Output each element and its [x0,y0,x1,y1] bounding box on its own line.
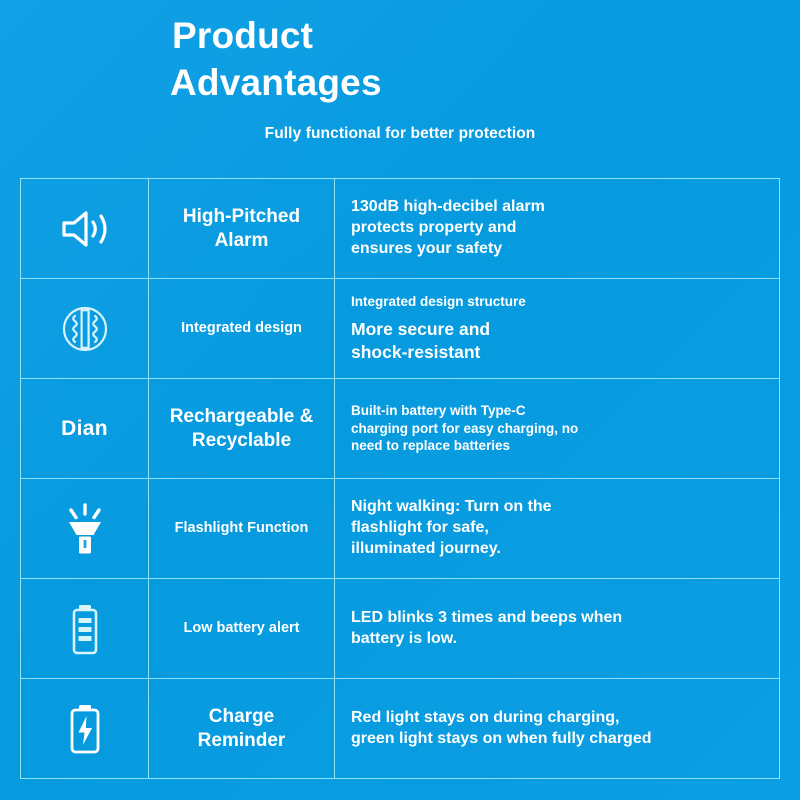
page-title: Product Advantages [170,12,630,107]
battery-charging-bolt-icon [65,703,105,755]
flashlight-icon [62,502,108,556]
row-description: LED blinks 3 times and beeps when batter… [351,608,763,650]
table-row: Flashlight Function Night walking: Turn … [21,479,779,579]
row-description: Red light stays on during charging, gree… [351,708,763,750]
title-line-2: Advantages [170,59,630,106]
row-description: More secure and shock-resistant [351,318,763,364]
row-icon-cell [21,679,149,778]
row-desc-cell: Red light stays on during charging, gree… [335,679,779,778]
row-title: Rechargeable & Recyclable [170,405,314,453]
table-row: High-Pitched Alarm 130dB high-decibel al… [21,179,779,279]
row-icon-cell: Dian [21,379,149,478]
table-row: Dian Rechargeable & Recyclable Built-in … [21,379,779,479]
row-title: Charge Reminder [198,705,286,753]
row-name-cell: High-Pitched Alarm [149,179,335,278]
row-name-cell: Flashlight Function [149,479,335,578]
row-icon-cell [21,279,149,378]
row-description: Night walking: Turn on the flashlight fo… [351,497,763,559]
row-title: Low battery alert [183,619,299,637]
table-row: Low battery alert LED blinks 3 times and… [21,579,779,679]
table-row: Integrated design Integrated design stru… [21,279,779,379]
row-desc-cell: Integrated design structure More secure … [335,279,779,378]
row-name-cell: Low battery alert [149,579,335,678]
row-description-eyebrow: Integrated design structure [351,293,763,311]
row-icon-cell [21,479,149,578]
advantages-table: High-Pitched Alarm 130dB high-decibel al… [20,178,780,779]
row-description: 130dB high-decibel alarm protects proper… [351,197,763,259]
battery-level-icon [66,602,104,656]
poster-header: Product Advantages Fully functional for … [0,0,800,143]
row-title: Flashlight Function [175,519,309,537]
row-desc-cell: Night walking: Turn on the flashlight fo… [335,479,779,578]
product-advantages-poster: Product Advantages Fully functional for … [0,0,800,800]
row-title: High-Pitched Alarm [183,205,300,253]
table-row: Charge Reminder Red light stays on durin… [21,679,779,778]
row-name-cell: Integrated design [149,279,335,378]
row-title: Integrated design [181,319,302,337]
integrated-design-icon [59,303,111,355]
row-desc-cell: 130dB high-decibel alarm protects proper… [335,179,779,278]
title-line-1: Product [170,12,630,59]
row-icon-cell [21,179,149,278]
row-desc-cell: Built-in battery with Type-C charging po… [335,379,779,478]
row-name-cell: Rechargeable & Recyclable [149,379,335,478]
row-name-cell: Charge Reminder [149,679,335,778]
row-icon-cell [21,579,149,678]
row-desc-cell: LED blinks 3 times and beeps when batter… [335,579,779,678]
dian-text-mark: Dian [61,417,108,441]
page-subtitle: Fully functional for better protection [0,125,800,143]
row-description: Built-in battery with Type-C charging po… [351,402,763,455]
speaker-sound-icon [58,206,112,252]
